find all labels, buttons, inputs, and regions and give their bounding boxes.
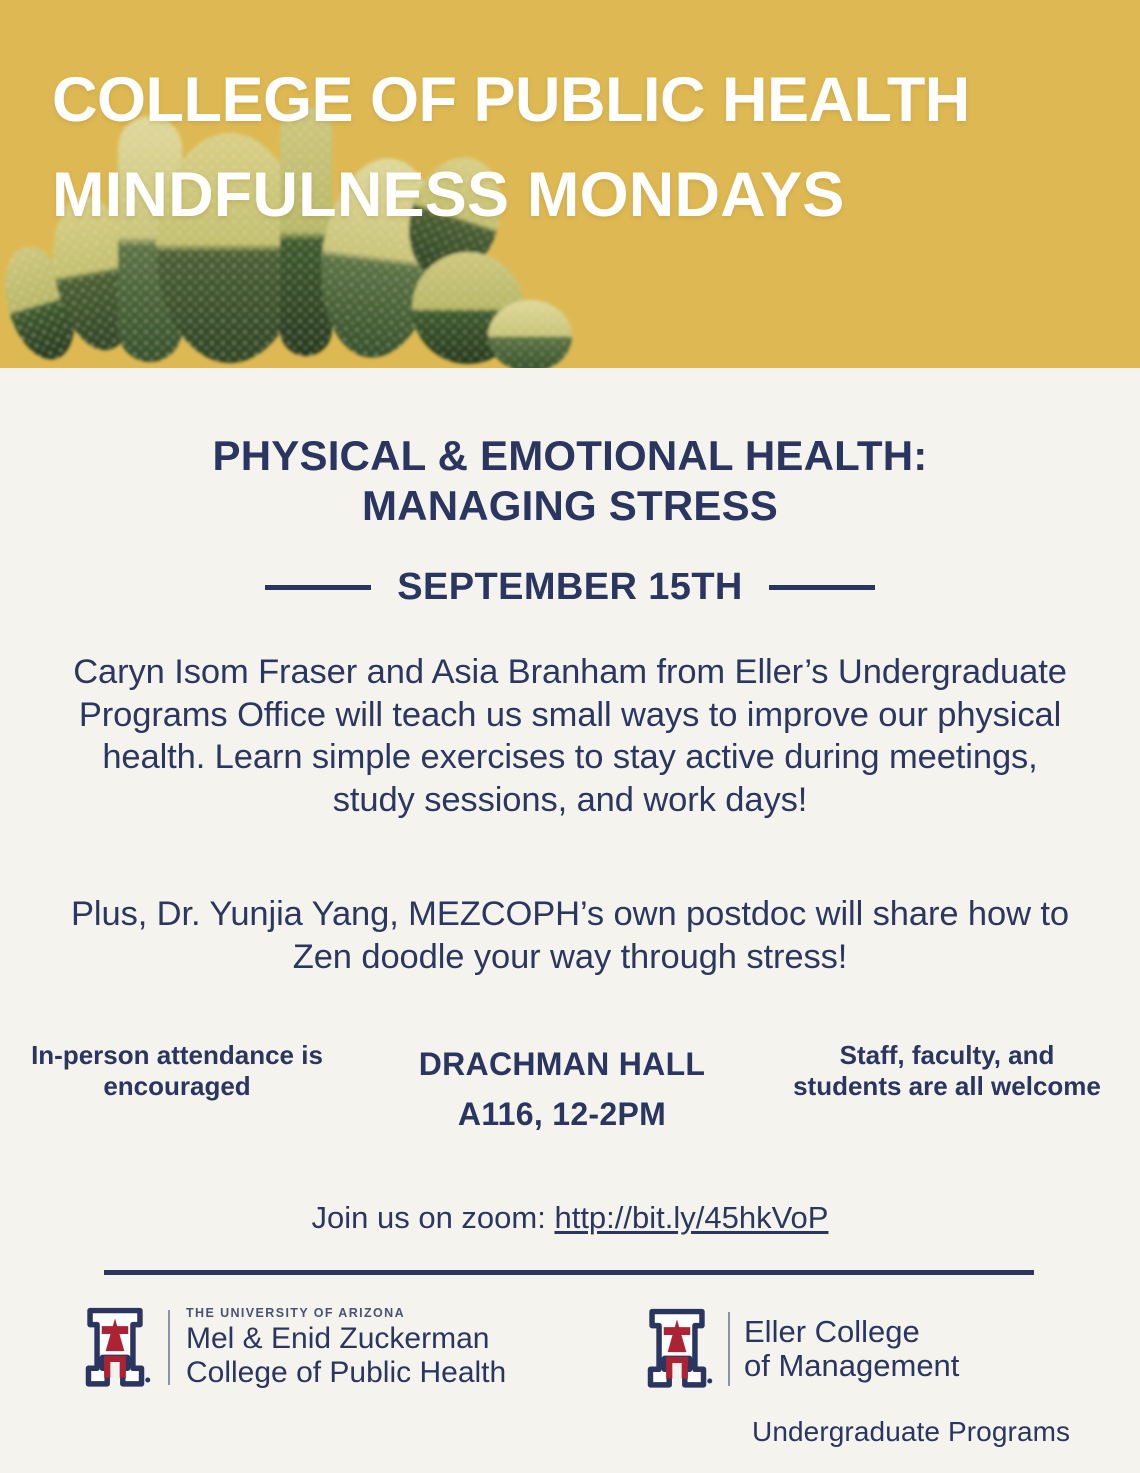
details-row: In-person attendance is encouraged DRACH… [0, 1040, 1140, 1139]
zoom-join-prefix: Join us on zoom: [312, 1200, 555, 1235]
zoom-join-link[interactable]: http://bit.ly/45hkVoP [554, 1200, 828, 1235]
banner-title-line-2: MINDFULNESS MONDAYS [52, 163, 1112, 229]
detail-location-building: DRACHMAN HALL [342, 1040, 782, 1090]
logo-eller-line-2: of Management [744, 1349, 959, 1383]
zoom-join-line: Join us on zoom: http://bit.ly/45hkVoP [0, 1200, 1140, 1236]
detail-audience: Staff, faculty, and students are all wel… [782, 1040, 1112, 1103]
logo-college-of-public-health: THE UNIVERSITY OF ARIZONA Mel & Enid Zuc… [76, 1306, 506, 1389]
logo-name-line-1: Mel & Enid Zuckerman [186, 1322, 506, 1356]
description-paragraph-2: Plus, Dr. Yunjia Yang, MEZCOPH’s own pos… [70, 893, 1070, 978]
logo-text-coph: THE UNIVERSITY OF ARIZONA Mel & Enid Zuc… [186, 1306, 506, 1389]
ua-block-a-icon [76, 1307, 154, 1389]
logo-eller-college: Eller College of Management [638, 1308, 959, 1390]
event-title: PHYSICAL & EMOTIONAL HEALTH: MANAGING ST… [0, 431, 1140, 530]
logo-name-line-2: College of Public Health [186, 1356, 506, 1390]
date-rule-right [769, 585, 875, 590]
event-date-row: SEPTEMBER 15TH [0, 566, 1140, 609]
detail-attendance: In-person attendance is encouraged [12, 1040, 342, 1103]
logo-eller-line-1: Eller College [744, 1315, 959, 1349]
detail-location: DRACHMAN HALL A116, 12-2PM [342, 1040, 782, 1139]
footer-logos: THE UNIVERSITY OF ARIZONA Mel & Enid Zuc… [0, 1298, 1140, 1458]
detail-location-room-time: A116, 12-2PM [342, 1090, 782, 1140]
ua-block-a-icon [638, 1308, 716, 1390]
event-title-line-2: MANAGING STRESS [0, 481, 1140, 531]
description-paragraph-1: Caryn Isom Fraser and Asia Branham from … [70, 651, 1070, 821]
banner-title: COLLEGE OF PUBLIC HEALTH MINDFULNESS MON… [52, 68, 1112, 228]
logo-text-eller: Eller College of Management [744, 1315, 959, 1383]
event-title-line-1: PHYSICAL & EMOTIONAL HEALTH: [0, 431, 1140, 481]
logo-eller-subtitle: Undergraduate Programs [752, 1416, 1070, 1448]
logo-eyebrow-university: THE UNIVERSITY OF ARIZONA [186, 1306, 506, 1320]
header-banner: COLLEGE OF PUBLIC HEALTH MINDFULNESS MON… [0, 0, 1140, 368]
flyer-body: PHYSICAL & EMOTIONAL HEALTH: MANAGING ST… [0, 368, 1140, 1473]
logo-divider-coph [168, 1310, 170, 1385]
logo-divider-eller [728, 1312, 730, 1386]
event-date: SEPTEMBER 15TH [397, 566, 743, 609]
date-rule-left [265, 585, 371, 590]
banner-title-line-1: COLLEGE OF PUBLIC HEALTH [52, 68, 1112, 134]
footer-divider [104, 1270, 1034, 1275]
